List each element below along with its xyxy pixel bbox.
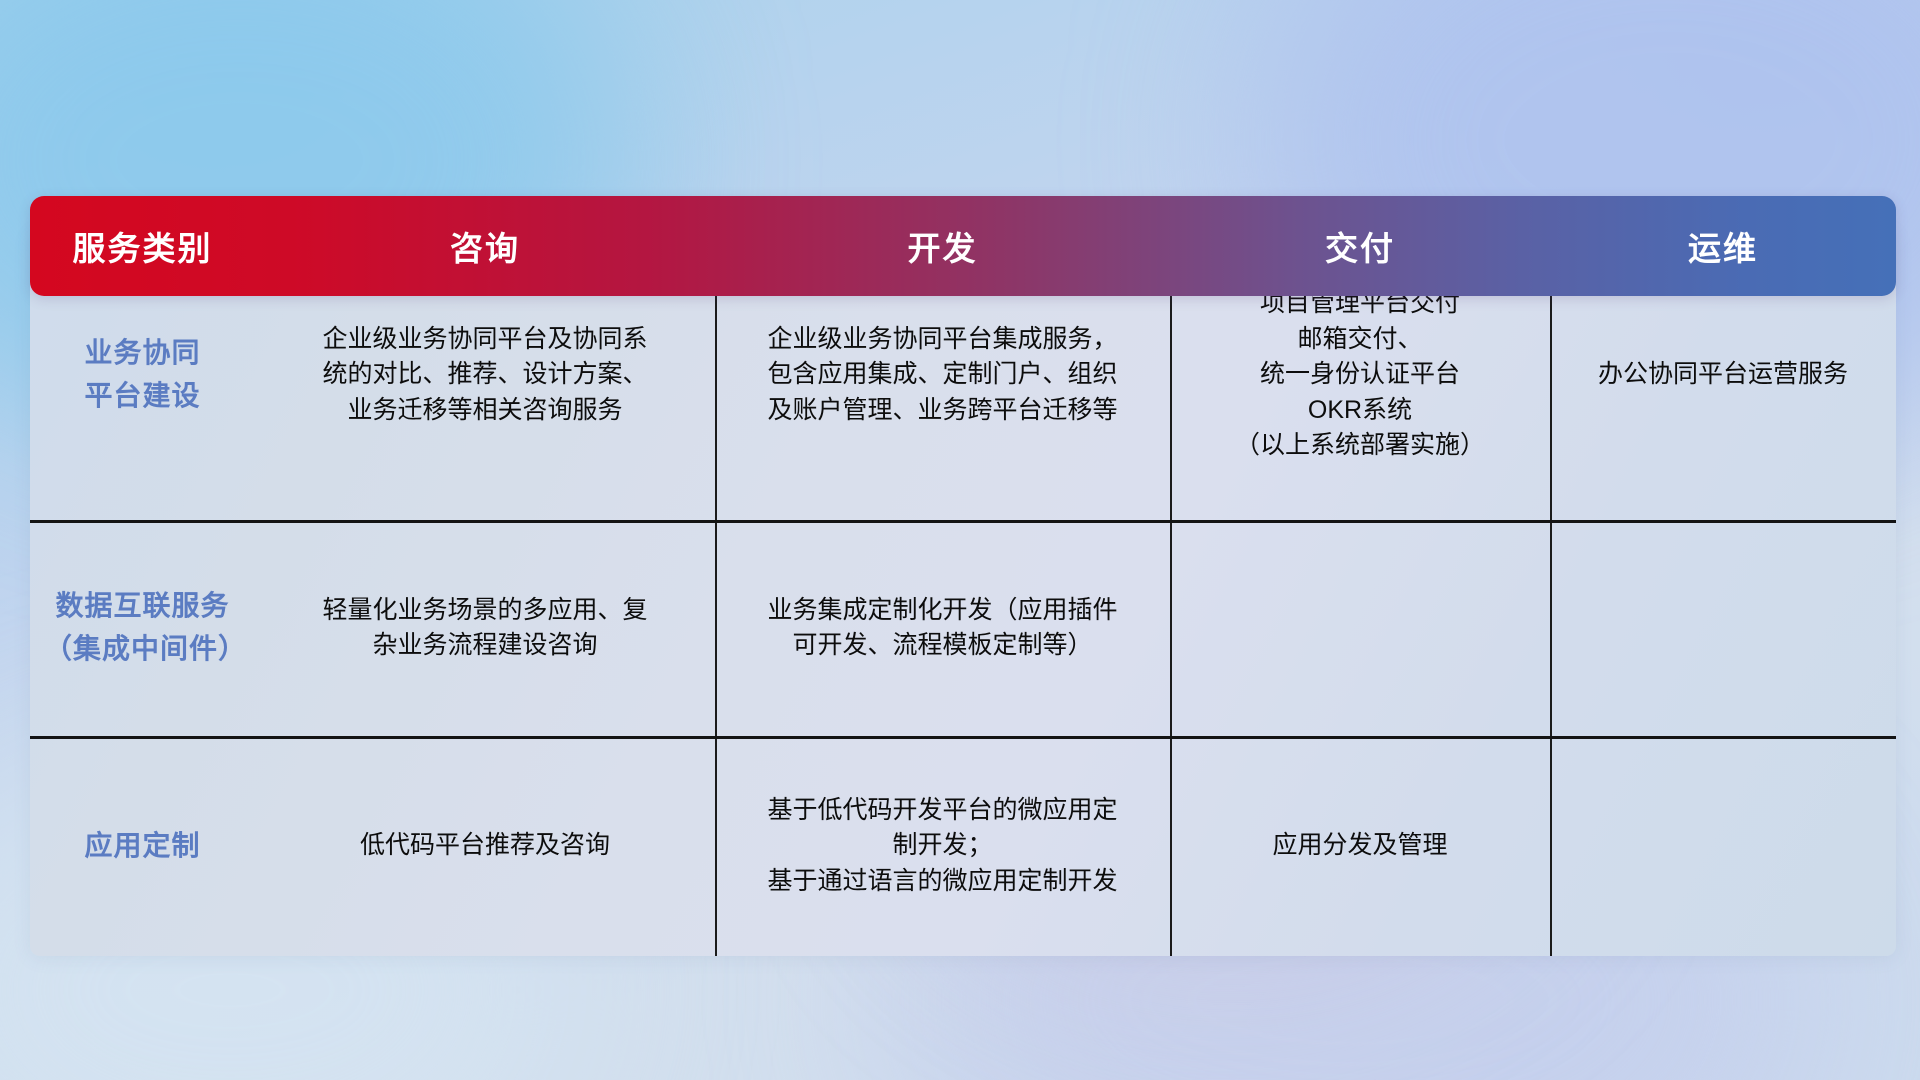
slide-canvas: 业务协同 平台建设 企业级业务协同平台及协同系 统的对比、推荐、设计方案、 业务… [0,0,1920,1080]
cell-delivery: 应用分发及管理 [1170,736,1550,956]
service-matrix-table: 业务协同 平台建设 企业级业务协同平台及协同系 统的对比、推荐、设计方案、 业务… [30,196,1896,956]
cell-delivery [1170,520,1550,736]
table-rows: 业务协同 平台建设 企业级业务协同平台及协同系 统的对比、推荐、设计方案、 业务… [30,230,1896,956]
table-row: 应用定制 低代码平台推荐及咨询 基于低代码开发平台的微应用定 制开发； 基于通过… [30,736,1896,956]
table-row: 数据互联服务 （集成中间件） 轻量化业务场景的多应用、复 杂业务流程建设咨询 业… [30,520,1896,736]
column-header-development[interactable]: 开发 [715,222,1170,270]
table-header: 服务类别 咨询 开发 交付 运维 [30,196,1896,296]
table-body-panel: 业务协同 平台建设 企业级业务协同平台及协同系 统的对比、推荐、设计方案、 业务… [30,230,1896,956]
row-category-label: 数据互联服务 （集成中间件） [30,520,255,736]
cell-consulting: 轻量化业务场景的多应用、复 杂业务流程建设咨询 [255,520,715,736]
cell-development: 基于低代码开发平台的微应用定 制开发； 基于通过语言的微应用定制开发 [715,736,1170,956]
cell-operations [1550,736,1896,956]
cell-operations [1550,520,1896,736]
column-header-consulting[interactable]: 咨询 [255,222,715,270]
column-header-delivery[interactable]: 交付 [1170,222,1550,270]
cell-development: 业务集成定制化开发（应用插件 可开发、流程模板定制等） [715,520,1170,736]
column-header-operations[interactable]: 运维 [1550,222,1896,270]
cell-consulting: 低代码平台推荐及咨询 [255,736,715,956]
column-header-category[interactable]: 服务类别 [30,222,255,270]
row-category-label: 应用定制 [30,736,255,956]
